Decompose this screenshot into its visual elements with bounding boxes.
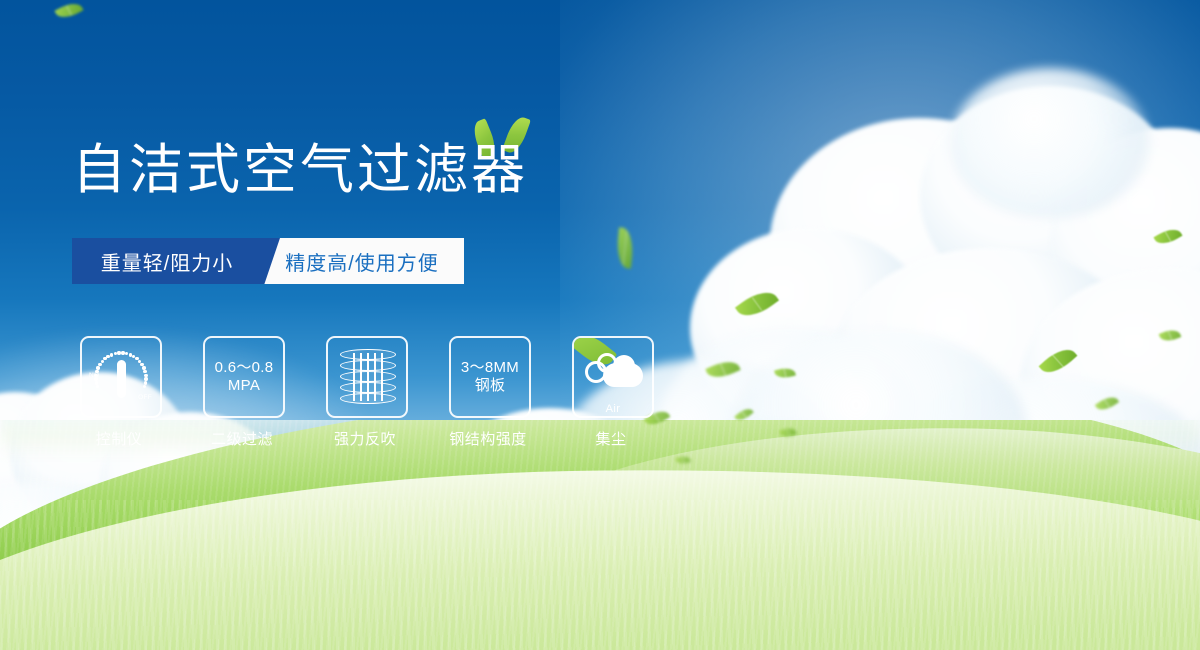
gauge-tick-dot [98,363,101,366]
air-label: Air [583,403,643,415]
gauge-tick-dot [143,385,146,388]
gauge-tick-dot [96,385,99,388]
feature-label: 强力反吹 [326,428,404,449]
gauge-tick-dot [125,352,128,355]
feature-label: 控制仪 [80,428,158,449]
gauge-tick-dot [95,370,98,373]
tagline-left-segment: 重量轻/阻力小 [72,238,262,284]
feature-label: 钢结构强度 [449,428,527,449]
grass-field [0,420,1200,650]
gauge-needle [117,360,126,398]
cloud-body [603,363,643,387]
feature-item[interactable]: 3〜8MM 钢板 钢结构强度 [449,336,527,449]
feature-item[interactable]: 强力反吹 [326,336,404,449]
gauge-max-label: OFF [138,394,152,401]
feature-label: 集尘 [572,428,650,449]
pressure-value: 0.6〜0.8 [215,359,274,376]
steel-thickness: 3〜8MM [461,359,519,376]
page-title: 自洁式空气过滤器 [72,143,528,197]
gauge-tick-dot [143,370,146,373]
feature-item[interactable]: Air 集尘 [572,336,650,449]
gauge-tick-dot [94,374,97,377]
feature-item[interactable]: NO OFF 控制仪 [80,336,158,449]
air-cloud-icon: Air [583,351,643,403]
feature-icon-box: 0.6〜0.8 MPA [203,336,285,418]
filter-stack-icon [340,349,394,405]
grass-texture-foreground [0,500,1200,650]
steel-plate-text-icon: 3〜8MM 钢板 [461,359,519,396]
gauge-icon: NO OFF [90,348,152,406]
gauge-tick-dot [101,360,104,363]
gauge-tick-dot [95,381,98,384]
feature-icon-box: 3〜8MM 钢板 [449,336,531,418]
feature-icon-box [326,336,408,418]
steel-material: 钢板 [461,377,519,395]
gauge-tick-dot [96,366,99,369]
feature-label: 二级过滤 [203,428,281,449]
product-banner: 自洁式空气过滤器 重量轻/阻力小 精度高/使用方便 NO OFF 控制仪 0.6… [0,0,1200,650]
feature-icon-box: NO OFF [80,336,162,418]
gauge-tick-dot [110,353,113,356]
pressure-unit: MPA [215,377,274,395]
feature-icon-box: Air [572,336,654,418]
feature-list: NO OFF 控制仪 0.6〜0.8 MPA 二级过滤 [80,336,650,449]
tagline-right-segment: 精度高/使用方便 [260,238,464,284]
feature-item[interactable]: 0.6〜0.8 MPA 二级过滤 [203,336,281,449]
pressure-text-icon: 0.6〜0.8 MPA [215,359,274,396]
tagline-bar: 重量轻/阻力小 精度高/使用方便 [72,238,464,284]
gauge-tick-dot [94,377,97,380]
